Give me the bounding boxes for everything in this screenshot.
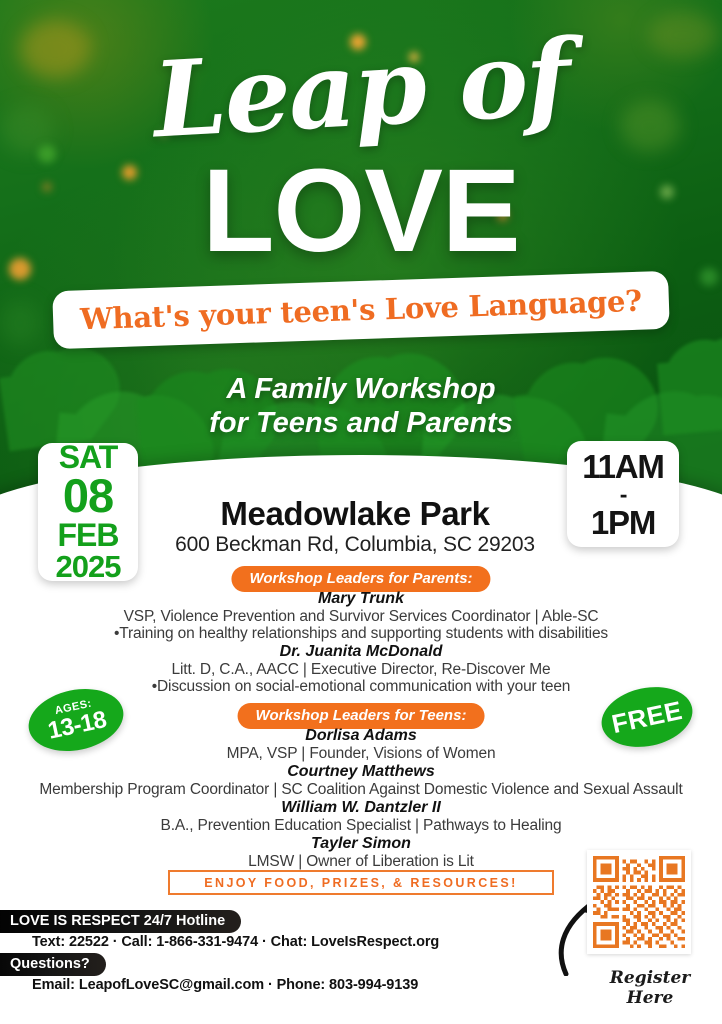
speaker-detail: •Training on healthy relationships and s…	[0, 625, 722, 643]
tagline-text: What's your teen's Love Language?	[80, 284, 643, 337]
enjoy-banner: ENJOY FOOD, PRIZES, & RESOURCES!	[168, 870, 554, 895]
speaker-credentials: VSP, Violence Prevention and Survivor Se…	[0, 608, 722, 626]
time-end: 1PM	[591, 506, 655, 539]
hotline-tag: LOVE IS RESPECT 24/7 Hotline	[0, 910, 241, 933]
speaker-name: Courtney Matthews	[0, 763, 722, 781]
speaker-name: Dorlisa Adams	[0, 727, 722, 745]
date-day: 08	[63, 473, 113, 520]
speaker-credentials: Membership Program Coordinator | SC Coal…	[0, 781, 722, 799]
parents-section-pill: Workshop Leaders for Parents:	[231, 566, 490, 592]
time-start: 11AM	[582, 450, 663, 483]
title-main: LOVE	[0, 152, 722, 270]
teens-section-pill: Workshop Leaders for Teens:	[238, 703, 485, 729]
bokeh-dot	[0, 300, 40, 346]
speaker-name: William W. Dantzler II	[0, 799, 722, 817]
hotline-line: Text: 22522 · Call: 1-866-331-9474 · Cha…	[32, 934, 439, 950]
date-card: SAT 08 FEB 2025	[38, 443, 138, 581]
subheading-line-2: for Teens and Parents	[0, 406, 722, 440]
hotline-tag-label: LOVE IS RESPECT 24/7 Hotline	[0, 913, 225, 929]
speaker-name: Dr. Juanita McDonald	[0, 643, 722, 661]
venue-name: Meadowlake Park	[140, 495, 570, 533]
bokeh-dot	[700, 268, 718, 286]
subheading-line-1: A Family Workshop	[0, 372, 722, 406]
qr-code[interactable]	[587, 850, 691, 954]
subheading: A Family Workshop for Teens and Parents	[0, 372, 722, 440]
questions-line: Email: LeapofLoveSC@gmail.com · Phone: 8…	[32, 977, 418, 993]
qr-code-graphic	[593, 856, 685, 948]
register-here-caption: Register Here	[592, 968, 708, 1008]
event-flyer: Leap of LOVE What's your teen's Love Lan…	[0, 0, 722, 1024]
speaker-credentials: MPA, VSP | Founder, Visions of Women	[0, 745, 722, 763]
questions-tag: Questions?	[0, 953, 106, 976]
venue-address: 600 Beckman Rd, Columbia, SC 29203	[110, 533, 600, 557]
questions-tag-label: Questions?	[0, 956, 90, 972]
speaker-credentials: B.A., Prevention Education Specialist | …	[0, 817, 722, 835]
time-card: 11AM - 1PM	[567, 441, 679, 547]
speaker-name: Mary Trunk	[0, 590, 722, 608]
time-separator: -	[620, 483, 626, 506]
speaker-credentials: Litt. D, C.A., AACC | Executive Director…	[0, 661, 722, 679]
